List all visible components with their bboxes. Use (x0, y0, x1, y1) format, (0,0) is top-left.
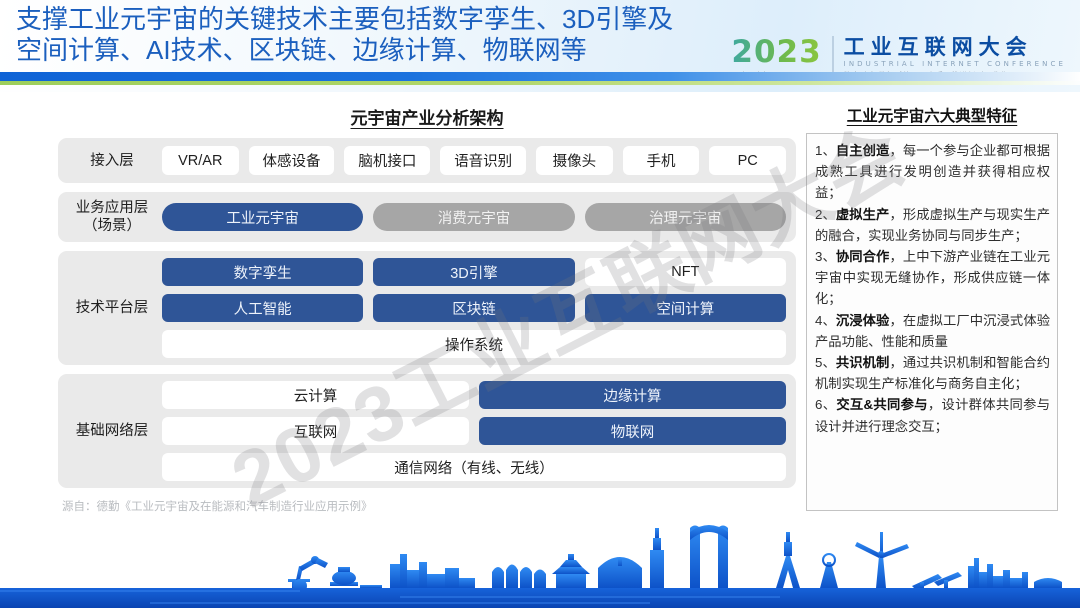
diagram-node[interactable]: 摄像头 (536, 146, 613, 175)
layer-body-access: VR/AR体感设备脑机接口语音识别摄像头手机PC (162, 146, 786, 175)
layer-label-access: 接入层 (58, 152, 162, 170)
diagram-node[interactable]: VR/AR (162, 146, 239, 175)
header-green-stripe (0, 81, 1080, 85)
feature-term: 协同合作 (836, 249, 890, 264)
diagram-layer-access: 接入层VR/AR体感设备脑机接口语音识别摄像头手机PC (58, 138, 796, 183)
page-title-line-2: 空间计算、AI技术、区块链、边缘计算、物联网等 (16, 35, 696, 66)
layer-row: 互联网物联网 (162, 417, 786, 445)
feature-item: 1、自主创造，每一个参与企业都可根据成熟工具进行发明创造并获得相应权益； (815, 140, 1050, 204)
diagram-layer-platform: 技术平台层数字孪生3D引擎NFT人工智能区块链空间计算操作系统 (58, 251, 796, 365)
page-title: 支撑工业元宇宙的关键技术主要包括数字孪生、3D引擎及 空间计算、AI技术、区块链… (16, 4, 696, 66)
diagram-node[interactable]: NFT (585, 258, 786, 286)
feature-item: 5、共识机制，通过共识机制和智能合约机制实现生产标准化与商务自主化； (815, 352, 1050, 394)
feature-index: 3、 (815, 249, 836, 264)
layer-body-network: 云计算边缘计算互联网物联网通信网络（有线、无线） (162, 381, 786, 481)
diagram-node[interactable]: 人工智能 (162, 294, 363, 322)
logo-divider (832, 36, 834, 74)
diagram-layer-network: 基础网络层云计算边缘计算互联网物联网通信网络（有线、无线） (58, 374, 796, 488)
feature-item: 3、协同合作，上中下游产业链在工业元宇宙中实现无缝协作，形成供应链一体化； (815, 246, 1050, 310)
diagram-node[interactable]: 边缘计算 (479, 381, 786, 409)
diagram-node[interactable]: 互联网 (162, 417, 469, 445)
diagram-node[interactable]: 通信网络（有线、无线） (162, 453, 786, 481)
layer-label-network: 基础网络层 (58, 422, 162, 440)
feature-term: 虚拟生产 (836, 207, 890, 222)
diagram-node[interactable]: PC (709, 146, 786, 175)
layer-row: 通信网络（有线、无线） (162, 453, 786, 481)
diagram-node[interactable]: 操作系统 (162, 330, 786, 358)
slide-footer (0, 520, 1080, 608)
logo-year: 2023 (731, 36, 821, 68)
layer-row: 操作系统 (162, 330, 786, 358)
layer-row: VR/AR体感设备脑机接口语音识别摄像头手机PC (162, 146, 786, 175)
layer-label-business: 业务应用层（场景） (58, 199, 162, 235)
feature-term: 交互&共同参与 (836, 397, 928, 412)
feature-item: 2、虚拟生产，形成虚拟生产与现实生产的融合，实现业务协同与同步生产； (815, 204, 1050, 246)
diagram-node[interactable]: 脑机接口 (344, 146, 430, 175)
diagram-node[interactable]: 手机 (623, 146, 700, 175)
diagram-layer-business: 业务应用层（场景）工业元宇宙消费元宇宙治理元宇宙 (58, 192, 796, 242)
feature-term: 自主创造 (836, 143, 890, 158)
feature-item: 4、沉浸体验，在虚拟工厂中沉浸式体验产品功能、性能和质量 (815, 310, 1050, 352)
feature-index: 2、 (815, 207, 836, 222)
layer-row: 数字孪生3D引擎NFT (162, 258, 786, 286)
feature-term: 共识机制 (836, 355, 890, 370)
logo-name-en: INDUSTRIAL INTERNET CONFERENCE (844, 60, 1066, 68)
diagram-node[interactable]: 治理元宇宙 (585, 203, 786, 231)
diagram-title: 元宇宙产业分析架构 (58, 104, 796, 129)
feature-item: 6、交互&共同参与，设计群体共同参与设计并进行理念交互； (815, 394, 1050, 436)
architecture-diagram: 元宇宙产业分析架构 接入层VR/AR体感设备脑机接口语音识别摄像头手机PC业务应… (58, 104, 796, 497)
diagram-node[interactable]: 3D引擎 (373, 258, 574, 286)
layer-body-business: 工业元宇宙消费元宇宙治理元宇宙 (162, 203, 786, 231)
feature-index: 6、 (815, 397, 836, 412)
feature-term: 沉浸体验 (836, 313, 890, 328)
header-blue-stripe (0, 72, 1080, 81)
diagram-node[interactable]: 云计算 (162, 381, 469, 409)
diagram-node[interactable]: 工业元宇宙 (162, 203, 363, 231)
feature-index: 1、 (815, 143, 836, 158)
feature-index: 4、 (815, 313, 836, 328)
layer-label-platform: 技术平台层 (58, 299, 162, 317)
diagram-node[interactable]: 体感设备 (249, 146, 335, 175)
features-panel-title: 工业元宇宙六大典型特征 (806, 104, 1058, 126)
city-skyline-icon (0, 520, 1080, 608)
logo-name-cn: 工业互联网大会 (844, 36, 1066, 59)
diagram-node[interactable]: 语音识别 (440, 146, 526, 175)
layer-body-platform: 数字孪生3D引擎NFT人工智能区块链空间计算操作系统 (162, 258, 786, 358)
source-note: 源自：德勤《工业元宇宙及在能源和汽车制造行业应用示例》 (62, 498, 373, 514)
feature-index: 5、 (815, 355, 836, 370)
layer-row: 人工智能区块链空间计算 (162, 294, 786, 322)
features-panel: 工业元宇宙六大典型特征 1、自主创造，每一个参与企业都可根据成熟工具进行发明创造… (806, 104, 1058, 511)
layer-row: 工业元宇宙消费元宇宙治理元宇宙 (162, 203, 786, 231)
diagram-node[interactable]: 空间计算 (585, 294, 786, 322)
layer-row: 云计算边缘计算 (162, 381, 786, 409)
diagram-node[interactable]: 物联网 (479, 417, 786, 445)
diagram-node[interactable]: 消费元宇宙 (373, 203, 574, 231)
diagram-node[interactable]: 数字孪生 (162, 258, 363, 286)
features-list: 1、自主创造，每一个参与企业都可根据成熟工具进行发明创造并获得相应权益；2、虚拟… (806, 133, 1058, 511)
diagram-node[interactable]: 区块链 (373, 294, 574, 322)
page-title-line-1: 支撑工业元宇宙的关键技术主要包括数字孪生、3D引擎及 (16, 4, 696, 35)
diagram-layers: 接入层VR/AR体感设备脑机接口语音识别摄像头手机PC业务应用层（场景）工业元宇… (58, 138, 796, 488)
slide-header: 支撑工业元宇宙的关键技术主要包括数字孪生、3D引擎及 空间计算、AI技术、区块链… (0, 0, 1080, 92)
